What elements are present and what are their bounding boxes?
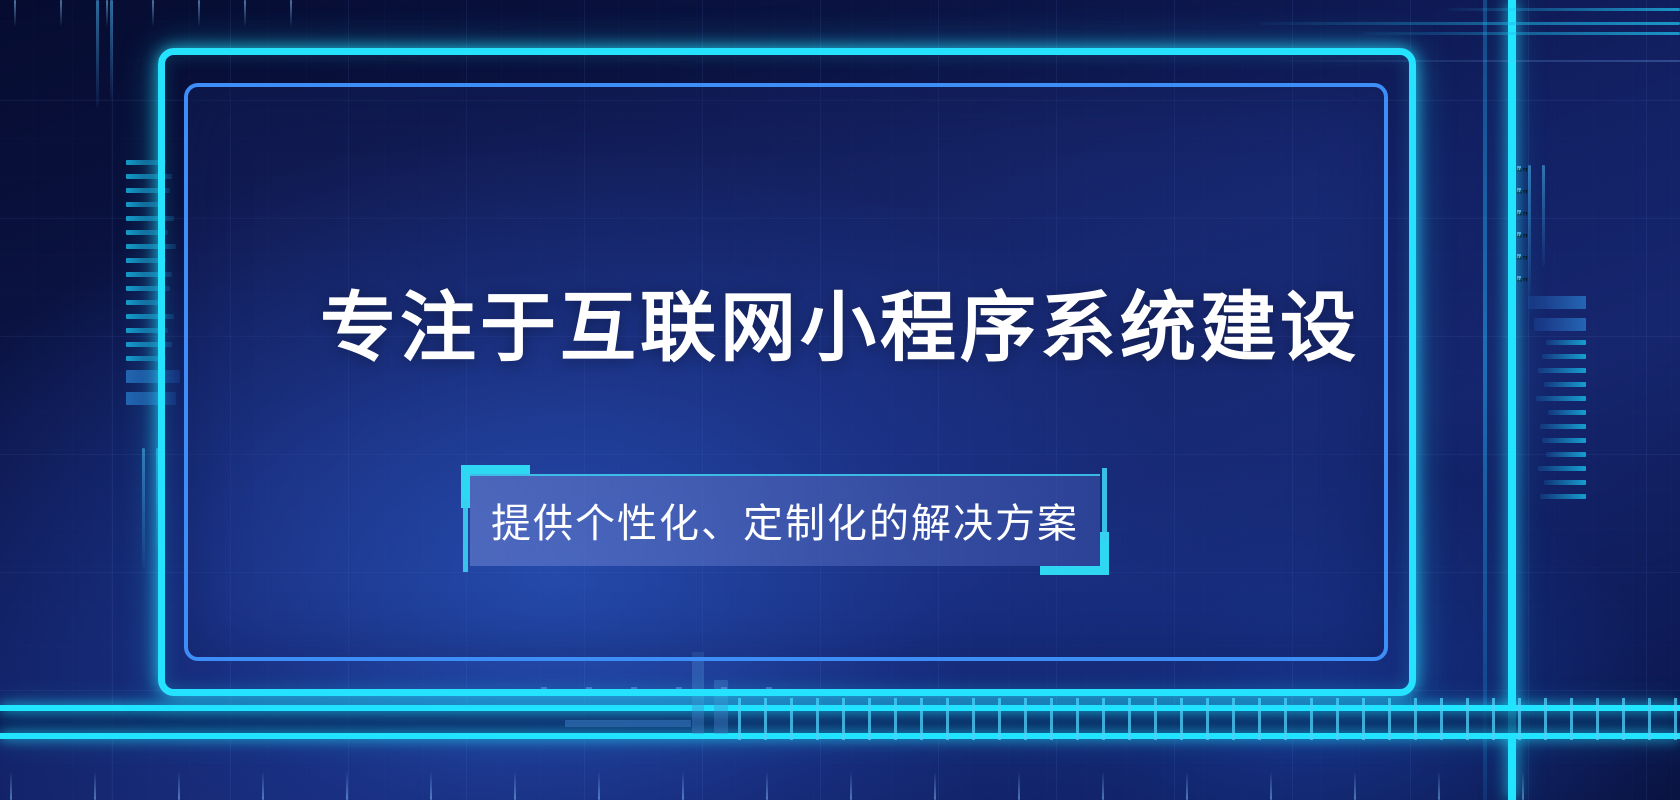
accent-line-tr-3 (1364, 32, 1680, 35)
vertical-slivers-right (1528, 165, 1545, 295)
subtitle-plate: 提供个性化、定制化的解决方案 (470, 474, 1100, 566)
vertical-slivers-left-lower (142, 448, 159, 568)
vertical-rail-right-bright (1508, 0, 1516, 800)
tick-marks-bottom (10, 772, 1524, 800)
accent-rail-lower (0, 733, 1680, 739)
tick-marks-top-left (14, 0, 292, 26)
vertical-slivers-top-left (96, 0, 113, 108)
rail-band (0, 707, 1680, 737)
dot-column-right (1517, 166, 1521, 280)
subtitle-text: 提供个性化、定制化的解决方案 (470, 474, 1100, 566)
accent-rail-upper (0, 705, 1680, 711)
inner-frame (184, 83, 1388, 661)
page-title: 专注于互联网小程序系统建设 (0, 286, 1680, 371)
vertical-rail-right-dim (1483, 0, 1487, 800)
block-strip (565, 720, 691, 727)
accent-line-tr-2 (1260, 22, 1680, 25)
rail-ticks-right (738, 698, 1680, 740)
hero-banner: 专注于互联网小程序系统建设 提供个性化、定制化的解决方案 (0, 0, 1680, 800)
